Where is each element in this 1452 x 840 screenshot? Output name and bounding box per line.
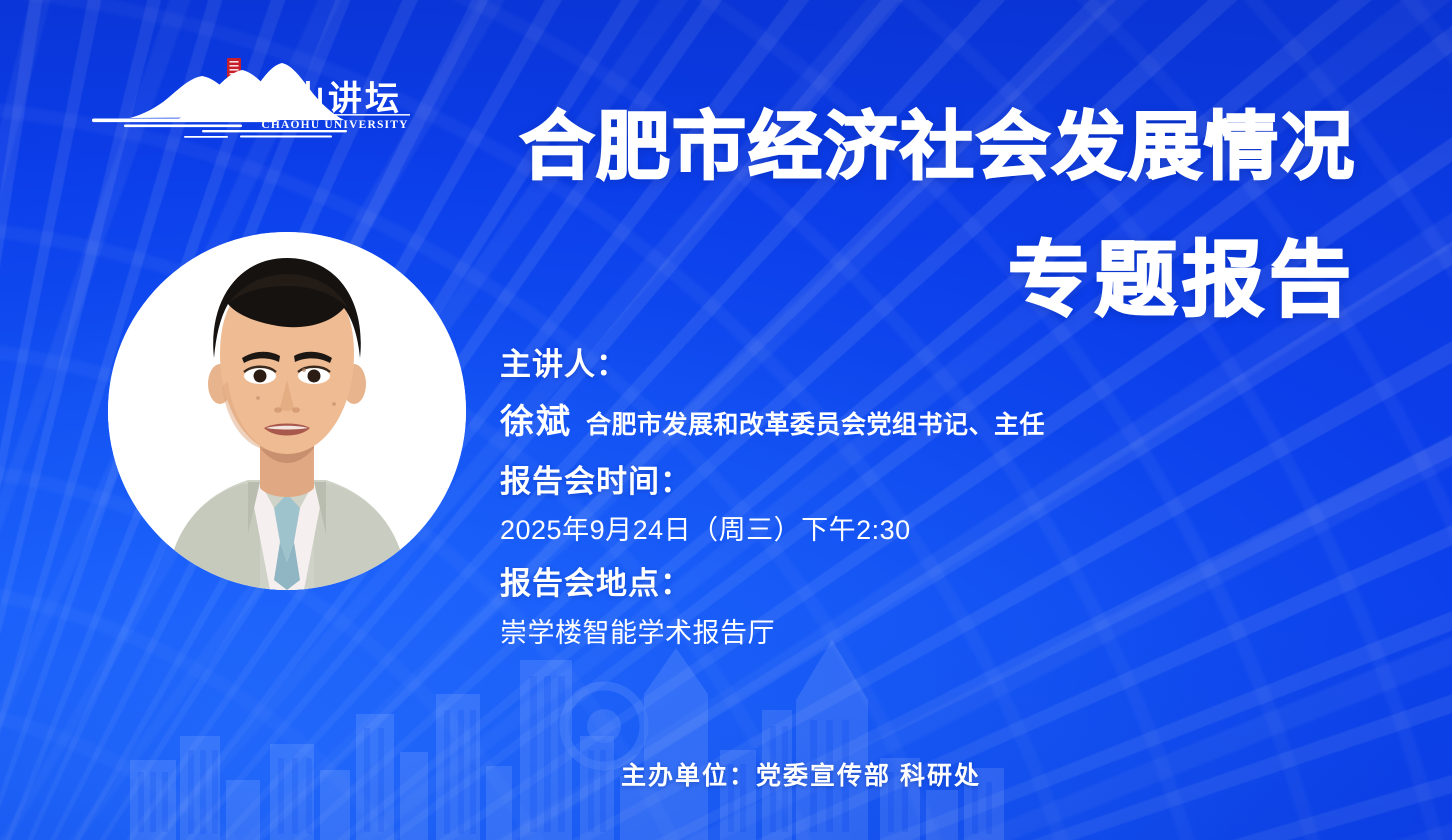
speaker-name: 徐斌 (500, 394, 572, 443)
organizer-text: 主办单位：党委宣传部 科研处 (471, 762, 981, 790)
logo-wordmark: 汤山讲坛 (254, 80, 402, 118)
event-poster: 汤山讲坛 CHAOHU UNIVERSITY 合肥市经济社会发展情况 专题报告 (0, 0, 1452, 840)
time-label: 报告会时间： (500, 461, 1260, 503)
poster-title: 合肥市经济社会发展情况 专题报告 (520, 108, 1356, 325)
logo-subtext: CHAOHU UNIVERSITY (261, 119, 408, 131)
venue-label: 报告会地点： (500, 563, 1260, 605)
venue-value: 崇学楼智能学术报告厅 (500, 611, 1260, 650)
speaker-row: 徐斌 合肥市发展和改革委员会党组书记、主任 (500, 394, 1260, 443)
city-skyline-icon (120, 640, 1020, 840)
title-line-2: 专题报告 (520, 238, 1356, 325)
event-details: 主讲人： 徐斌 合肥市发展和改革委员会党组书记、主任 报告会时间： 2025年9… (500, 344, 1260, 650)
speaker-position: 合肥市发展和改革委员会党组书记、主任 (586, 405, 1045, 441)
speaker-label: 主讲人： (500, 344, 1260, 386)
speaker-portrait (108, 232, 466, 590)
chaohu-university-logo: 汤山讲坛 CHAOHU UNIVERSITY (72, 52, 412, 144)
time-value: 2025年9月24日（周三）下午2:30 (500, 508, 1260, 547)
title-line-1: 合肥市经济社会发展情况 (520, 108, 1356, 186)
footer: 主办单位：党委宣传部 科研处 (0, 756, 1452, 792)
speaker-photo (108, 232, 466, 590)
